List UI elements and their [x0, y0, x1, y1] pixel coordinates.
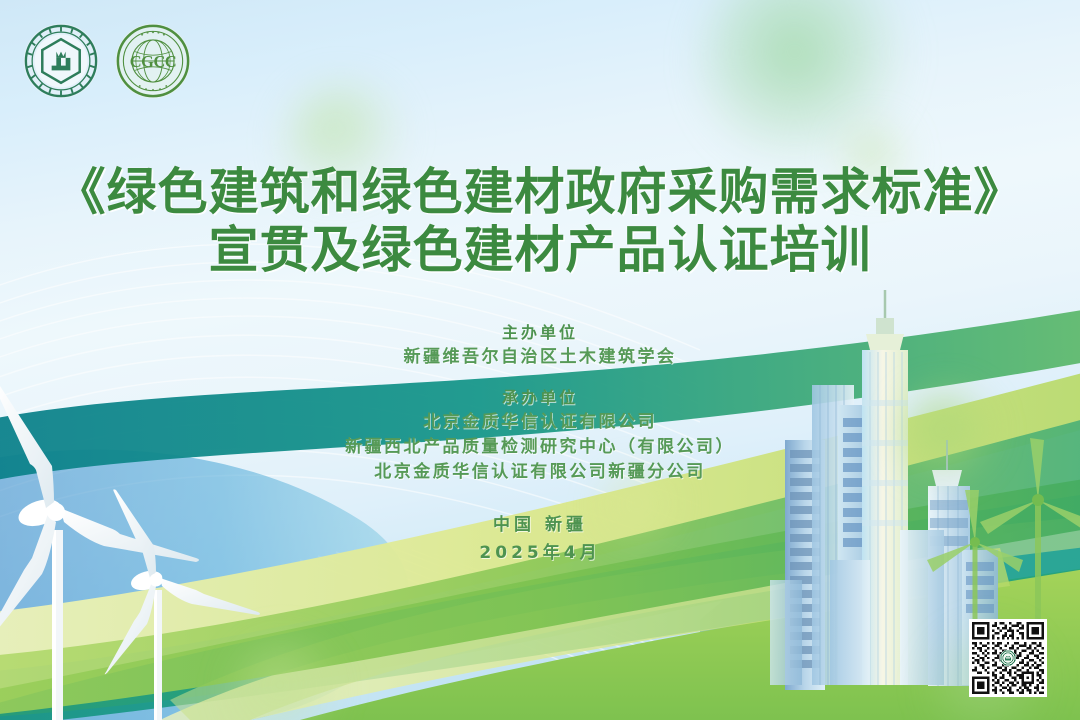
- poster-title: 《绿色建筑和绿色建材政府采购需求标准》 宣贯及绿色建材产品认证培训: [0, 163, 1080, 279]
- sun-orb-icon: [700, 0, 910, 170]
- organizer-heading: 承办单位: [0, 386, 1080, 410]
- registration-qr-code[interactable]: [969, 619, 1047, 697]
- qr-code-icon: [972, 622, 1044, 694]
- credits-block: 主办单位 新疆维吾尔自治区土木建筑学会 承办单位 北京金质华信认证有限公司 新疆…: [0, 321, 1080, 567]
- cgcc-logo-icon: CGCC: [114, 22, 192, 100]
- organizer-organization: 北京金质华信认证有限公司: [0, 410, 1080, 435]
- host-heading: 主办单位: [0, 321, 1080, 345]
- poster-canvas: CGCC 《绿色建筑和绿色建材政府采购需求标准》 宣贯及绿色建材产品认证培训 主…: [0, 0, 1080, 720]
- svg-text:CGCC: CGCC: [130, 52, 177, 71]
- glow-orb-icon: [230, 640, 340, 720]
- event-location: 中国 新疆: [0, 511, 1080, 539]
- logo-group: CGCC: [22, 22, 192, 100]
- host-organization: 新疆维吾尔自治区土木建筑学会: [0, 345, 1080, 370]
- event-info-block: 中国 新疆 2025年4月: [0, 511, 1080, 567]
- accreditation-seal-logo-icon: [22, 22, 100, 100]
- event-date: 2025年4月: [0, 539, 1080, 567]
- title-line-2: 宣贯及绿色建材产品认证培训: [0, 221, 1080, 279]
- host-block: 主办单位 新疆维吾尔自治区土木建筑学会: [0, 321, 1080, 370]
- organizer-organization: 北京金质华信认证有限公司新疆分公司: [0, 460, 1080, 485]
- organizer-block: 承办单位 北京金质华信认证有限公司 新疆西北产品质量检测研究中心（有限公司） 北…: [0, 386, 1080, 485]
- organizer-organization: 新疆西北产品质量检测研究中心（有限公司）: [0, 435, 1080, 460]
- title-line-1: 《绿色建筑和绿色建材政府采购需求标准》: [0, 163, 1080, 221]
